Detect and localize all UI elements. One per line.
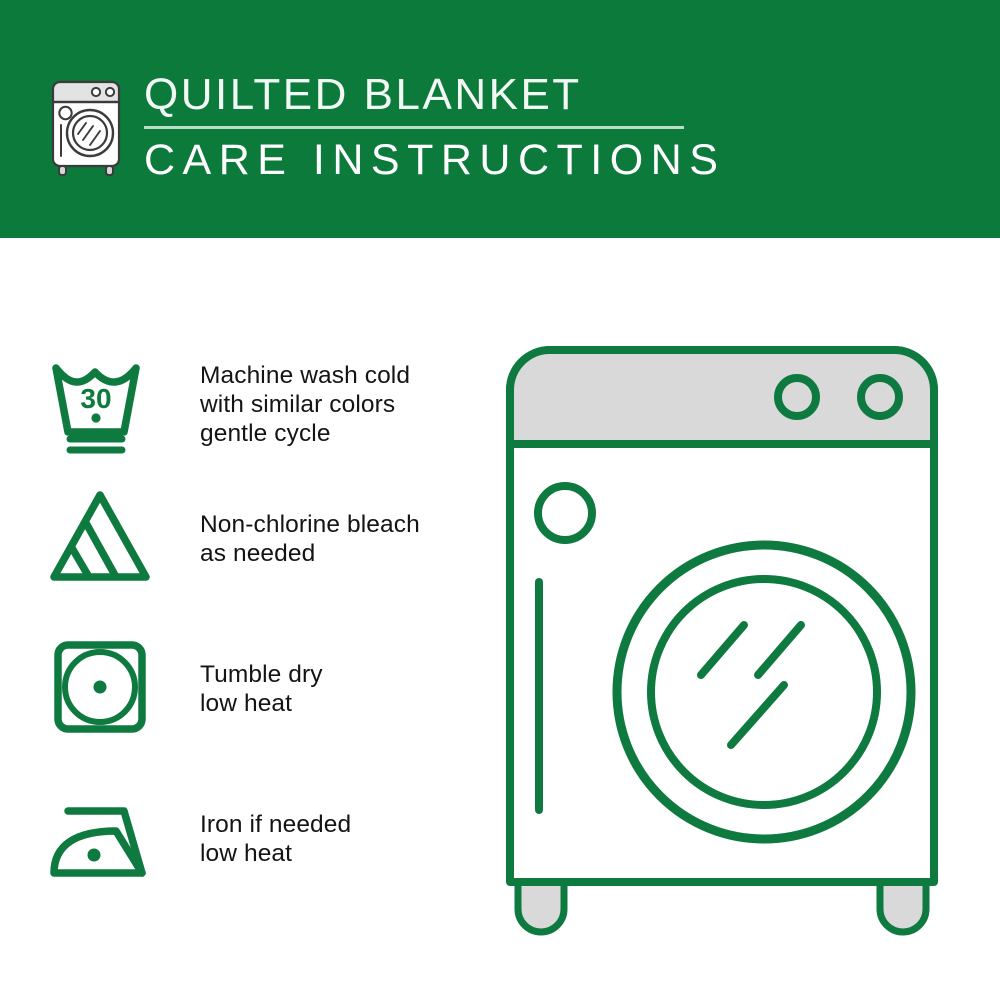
care-instructions-page: QUILTED BLANKET CARE INSTRUCTIONS 30: [0, 0, 1000, 1000]
machine-wash-30-icon: 30: [48, 346, 160, 458]
knob-right: [861, 378, 899, 416]
tumble-dry-low-icon: [48, 633, 160, 745]
knob-left: [778, 378, 816, 416]
door-inner-ring: [651, 579, 877, 805]
non-chlorine-bleach-triangle-icon: [48, 483, 160, 595]
care-instruction-list: 30 Machine wash cold with similar colors…: [0, 238, 480, 1000]
care-text: Iron if needed low heat: [200, 810, 351, 868]
care-text: Tumble dry low heat: [200, 660, 323, 718]
page-title: QUILTED BLANKET: [144, 70, 744, 120]
front-load-washing-machine-illustration: [488, 330, 978, 940]
header-banner: QUILTED BLANKET CARE INSTRUCTIONS: [0, 0, 1000, 238]
title-divider: [144, 126, 684, 129]
care-text: Machine wash cold with similar colors ge…: [200, 361, 410, 448]
header-title-group: QUILTED BLANKET CARE INSTRUCTIONS: [144, 70, 744, 184]
washing-machine-icon: [45, 72, 137, 176]
page-subtitle: CARE INSTRUCTIONS: [144, 136, 744, 184]
detergent-drawer-circle: [538, 486, 592, 540]
wash-temperature-label: 30: [80, 383, 111, 414]
iron-low-heat-icon: [48, 783, 160, 895]
care-text: Non-chlorine bleach as needed: [200, 510, 420, 568]
